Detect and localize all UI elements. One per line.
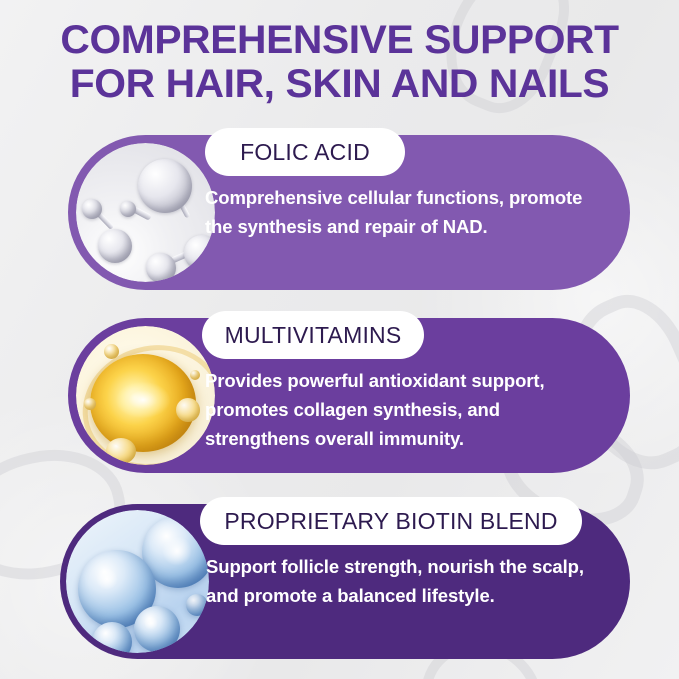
benefit-card-title-badge: MULTIVITAMINS (202, 311, 424, 359)
benefit-card-title-badge: FOLIC ACID (205, 128, 405, 176)
benefit-card-multivitamins: MULTIVITAMINS Provides powerful antioxid… (68, 318, 630, 473)
benefit-card-thumbnail (72, 139, 219, 286)
page-title-line-1: COMPREHENSIVE SUPPORT (0, 18, 679, 62)
benefit-card-title-badge: PROPRIETARY BIOTIN BLEND (200, 497, 582, 545)
benefit-card-title: MULTIVITAMINS (225, 322, 402, 349)
benefit-card-description: Comprehensive cellular functions, promot… (205, 183, 597, 241)
benefit-card-folic-acid: FOLIC ACID Comprehensive cellular functi… (68, 135, 630, 290)
benefit-card-proprietary-biotin-blend: PROPRIETARY BIOTIN BLEND Support follicl… (60, 504, 630, 659)
benefit-card-thumbnail (62, 506, 213, 657)
molecule-spheres-image (76, 143, 215, 282)
benefit-card-description: Support follicle strength, nourish the s… (206, 552, 598, 610)
benefit-card-title: FOLIC ACID (240, 139, 370, 166)
benefit-card-thumbnail (72, 322, 219, 469)
infographic-page: COMPREHENSIVE SUPPORT FOR HAIR, SKIN AND… (0, 0, 679, 679)
page-title: COMPREHENSIVE SUPPORT FOR HAIR, SKIN AND… (0, 18, 679, 106)
benefit-card-description: Provides powerful antioxidant support, p… (205, 366, 605, 453)
page-title-line-2: FOR HAIR, SKIN AND NAILS (0, 62, 679, 106)
golden-oil-droplet-image (76, 326, 215, 465)
blue-bubbles-image (66, 510, 209, 653)
benefit-card-title: PROPRIETARY BIOTIN BLEND (224, 508, 557, 535)
